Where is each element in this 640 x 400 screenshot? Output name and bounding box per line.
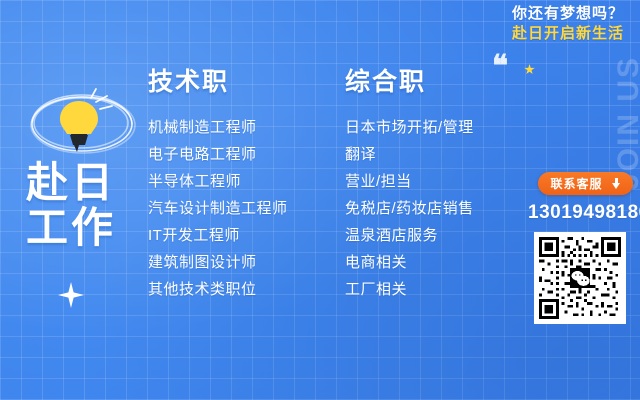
brand-title: 赴日 工作	[26, 160, 116, 251]
column-tech-title: 技术职	[148, 62, 288, 98]
column-general-list: 日本市场开拓/管理 翻译 营业/担当 免税店/药妆店销售 温泉酒店服务 电商相关…	[345, 120, 474, 297]
brand-line-2: 工作	[26, 205, 116, 250]
contact-support-label: 联系客服	[550, 175, 602, 192]
list-item: 温泉酒店服务	[345, 228, 474, 243]
list-item: 机械制造工程师	[148, 120, 288, 135]
arrow-down-icon	[612, 178, 621, 190]
list-item: 日本市场开拓/管理	[345, 120, 474, 135]
column-general-title: 综合职	[345, 62, 474, 98]
headline-line-1: 你还有梦想吗？	[512, 6, 624, 22]
list-item: 电商相关	[345, 255, 474, 270]
lightbulb-icon	[24, 82, 140, 164]
phone-number[interactable]: 13019498186	[528, 202, 640, 224]
sparkle-icon	[58, 282, 84, 308]
list-item: 半导体工程师	[148, 174, 288, 189]
column-tech: 技术职 机械制造工程师 电子电路工程师 半导体工程师 汽车设计制造工程师 IT开…	[148, 62, 288, 309]
quote-mark-icon: ❝	[492, 52, 508, 82]
list-item: 建筑制图设计师	[148, 255, 288, 270]
list-item: 其他技术类职位	[148, 282, 288, 297]
brand-line-1: 赴日	[26, 160, 116, 205]
headline: 你还有梦想吗？ 赴日开启新生活	[512, 6, 624, 42]
list-item: 翻译	[345, 147, 474, 162]
list-item: IT开发工程师	[148, 228, 288, 243]
list-item: 免税店/药妆店销售	[345, 201, 474, 216]
contact-support-button[interactable]: 联系客服	[538, 172, 633, 195]
list-item: 电子电路工程师	[148, 147, 288, 162]
poster-canvas: JOIN US 你还有梦想吗？ 赴日开启新生活 ❝	[0, 0, 640, 400]
list-item: 营业/担当	[345, 174, 474, 189]
list-item: 工厂相关	[345, 282, 474, 297]
star-icon	[524, 64, 535, 75]
list-item: 汽车设计制造工程师	[148, 201, 288, 216]
column-general: 综合职 日本市场开拓/管理 翻译 营业/担当 免税店/药妆店销售 温泉酒店服务 …	[345, 62, 474, 309]
column-tech-list: 机械制造工程师 电子电路工程师 半导体工程师 汽车设计制造工程师 IT开发工程师…	[148, 120, 288, 297]
headline-line-2: 赴日开启新生活	[512, 26, 624, 42]
wechat-qr-code[interactable]	[534, 232, 626, 324]
join-us-watermark: JOIN US	[612, 56, 640, 190]
